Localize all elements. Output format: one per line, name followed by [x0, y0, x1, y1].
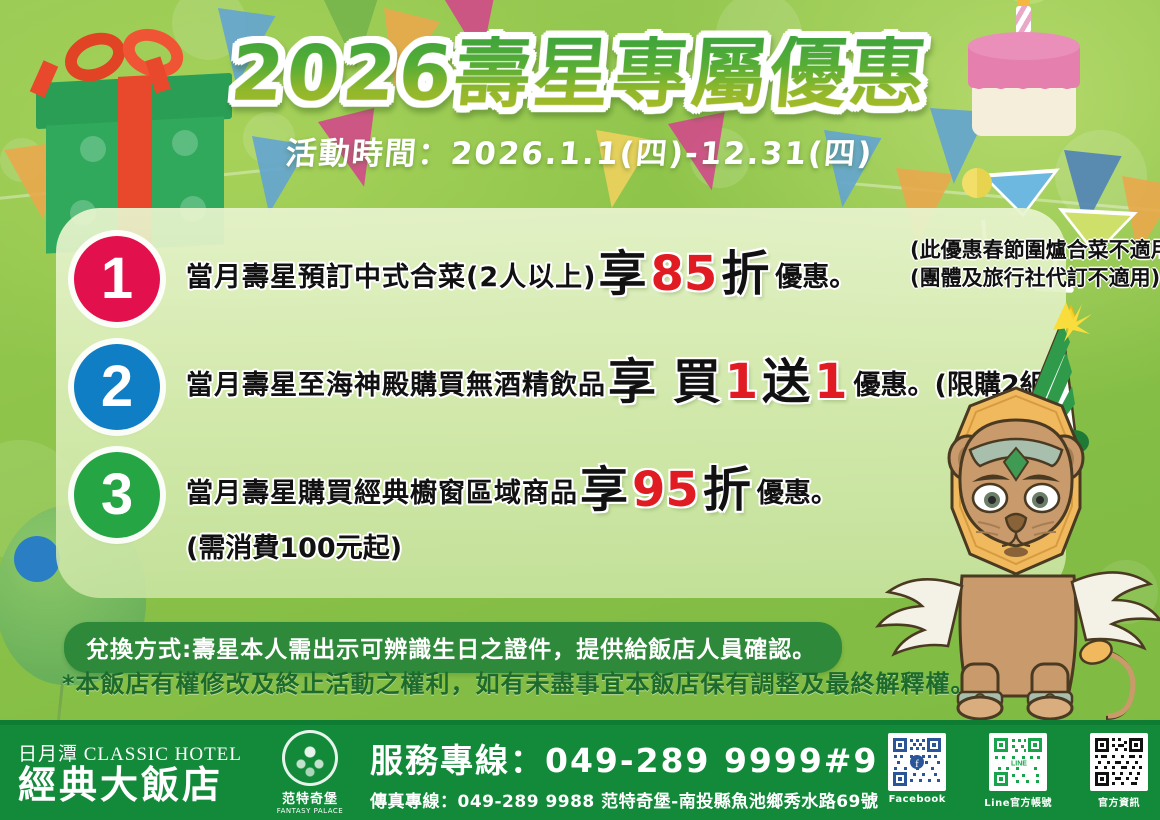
- offer-text: 當月壽星預訂中式合菜(2人以上): [186, 255, 596, 294]
- offer-number-badge: 3: [74, 452, 160, 538]
- disclaimer-text: *本飯店有權修改及終止活動之權利，如有未盡事宜本飯店保有調整及最終解釋權。: [62, 664, 976, 699]
- contact-info: 服務專線：049-289 9999#9 傳真專線：049-289 9988 范特…: [370, 734, 878, 812]
- offer-discount-value: 85: [650, 250, 717, 298]
- offer-notes: (此優惠春節圍爐合菜不適用) (團體及旅行社代訂不適用): [910, 236, 1160, 292]
- offer-highlight-mid: 送: [762, 358, 810, 406]
- emblem-chinese-label: 范特奇堡: [272, 788, 348, 807]
- offer-sub-condition: (需消費100元起): [186, 526, 838, 565]
- offer-text-after: 優惠。: [775, 255, 856, 294]
- brand-english-name: 日月潭 CLASSIC HOTEL: [18, 739, 268, 766]
- qr-caption: Line官方帳號: [984, 794, 1052, 809]
- facebook-qr-image[interactable]: f: [888, 733, 946, 791]
- offer-note: (團體及旅行社代訂不適用): [910, 264, 1160, 292]
- offer-discount-value: 95: [632, 466, 699, 514]
- offer-discount-unit: 折: [703, 466, 751, 514]
- emblem-english-label: FANTASY PALACE: [272, 807, 348, 815]
- poster-header: 2026壽星專屬優惠 活動時間：2026.1.1(四)-12.31(四): [0, 36, 1160, 173]
- fantasy-palace-emblem-icon: 范特奇堡 FANTASY PALACE: [272, 730, 348, 815]
- blue-dot-decoration: [14, 536, 60, 582]
- brand-chinese-name: 經典大飯店: [18, 766, 268, 806]
- svg-text:f: f: [915, 758, 919, 770]
- qr-code-group: f Facebook: [888, 733, 1148, 809]
- fax-and-address: 傳真專線：049-289 9988 范特奇堡-南投縣魚池鄉秀水路69號: [370, 787, 878, 812]
- official-qr-image[interactable]: [1090, 733, 1148, 791]
- offer-highlight-prefix: 享: [598, 250, 646, 298]
- line-qr-image[interactable]: LINE: [989, 733, 1047, 791]
- page-title: 2026壽星專屬優惠: [228, 36, 932, 112]
- offer-highlight-prefix: 享: [580, 466, 628, 514]
- offer-free-count: 1: [814, 358, 847, 406]
- offer-text: 當月壽星至海神殿購買無酒精飲品: [186, 363, 606, 402]
- event-period-subtitle: 活動時間：2026.1.1(四)-12.31(四): [284, 128, 876, 173]
- qr-caption: 官方資訊: [1090, 794, 1148, 809]
- offer-discount-unit: 折: [721, 250, 769, 298]
- service-phone: 服務專線：049-289 9999#9: [370, 734, 878, 782]
- offer-text: 當月壽星購買經典櫥窗區域商品: [186, 471, 578, 510]
- svg-text:LINE: LINE: [1011, 761, 1027, 768]
- offer-note: (此優惠春節圍爐合菜不適用): [910, 236, 1160, 264]
- hotel-brand: 日月潭 CLASSIC HOTEL 經典大飯店: [18, 739, 268, 806]
- qr-code-facebook[interactable]: f Facebook: [888, 733, 946, 809]
- footer-bar: 日月潭 CLASSIC HOTEL 經典大飯店 范特奇堡 FANTASY PAL…: [0, 725, 1160, 820]
- qr-caption: Facebook: [888, 794, 946, 805]
- offer-text-after: 優惠。: [757, 471, 838, 510]
- offer-number-badge: 1: [74, 236, 160, 322]
- offer-highlight-prefix: 享 買: [608, 358, 721, 406]
- qr-code-line[interactable]: LINE Line官方帳號: [984, 733, 1052, 809]
- offer-number-badge: 2: [74, 344, 160, 430]
- qr-code-official[interactable]: 官方資訊: [1090, 733, 1148, 809]
- birthday-promo-poster: 2026壽星專屬優惠 活動時間：2026.1.1(四)-12.31(四) 1 當…: [0, 0, 1160, 820]
- offer-buy-count: 1: [725, 358, 758, 406]
